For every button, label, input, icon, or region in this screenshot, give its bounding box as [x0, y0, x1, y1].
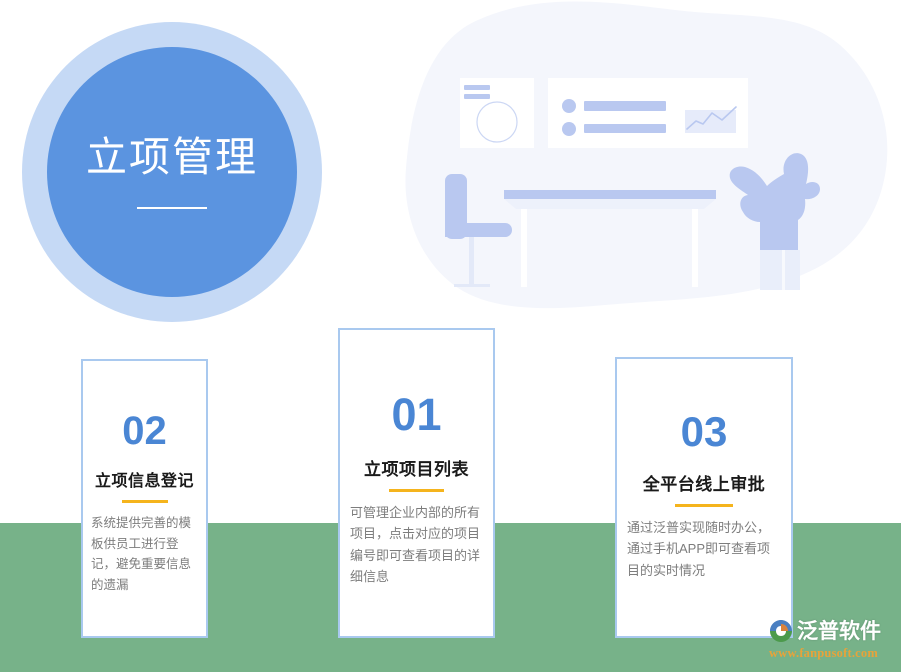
hero-circle: 立项管理 — [47, 47, 297, 297]
desk-top-surface — [504, 199, 716, 209]
bullet-dot-1 — [562, 99, 576, 113]
blob-background — [405, 2, 887, 309]
chair-post — [469, 237, 474, 284]
fanpu-swoosh-icon — [768, 618, 794, 644]
brand-url: www.fanpusoft.com — [769, 646, 878, 661]
card-description: 系统提供完善的模板供员工进行登记，避免重要信息的遗漏 — [83, 513, 206, 596]
plant-pot — [760, 250, 800, 290]
bullet-bar-1 — [584, 101, 666, 111]
card-divider — [122, 500, 168, 503]
feature-card-01[interactable]: 01 立项项目列表 可管理企业内部的所有项目，点击对应的项目编号即可查看项目的详… — [338, 328, 495, 638]
feature-card-03[interactable]: 03 全平台线上审批 通过泛普实现随时办公，通过手机APP即可查看项目的实时情况 — [615, 357, 793, 638]
desk-top-edge — [504, 190, 716, 199]
card-title: 立项项目列表 — [364, 455, 469, 480]
slide-canvas: 立项管理 02 立项信息登记 系统提供完善的模板供员工进行登记，避免重要信息的遗… — [0, 0, 901, 672]
panel-bar-2 — [464, 94, 490, 99]
chair-seat — [445, 223, 512, 237]
hero-divider — [137, 207, 207, 209]
bullet-dot-2 — [562, 122, 576, 136]
card-number: 03 — [681, 411, 728, 453]
feature-card-02[interactable]: 02 立项信息登记 系统提供完善的模板供员工进行登记，避免重要信息的遗漏 — [81, 359, 208, 638]
brand-logo-row: 泛普软件 — [768, 618, 881, 644]
panel-bar-1 — [464, 85, 490, 90]
brand-name: 泛普软件 — [797, 621, 881, 642]
card-title: 全平台线上审批 — [643, 470, 766, 495]
page-title: 立项管理 — [86, 135, 258, 180]
chair-base — [454, 284, 490, 287]
office-desk-illustration — [400, 0, 901, 330]
card-title: 立项信息登记 — [95, 467, 194, 491]
plant-pot-highlight — [782, 250, 785, 290]
card-divider — [389, 489, 444, 492]
card-number: 02 — [122, 411, 167, 451]
card-divider — [675, 504, 733, 507]
card-description: 可管理企业内部的所有项目，点击对应的项目编号即可查看项目的详细信息 — [340, 502, 493, 588]
card-description: 通过泛普实现随时办公，通过手机APP即可查看项目的实时情况 — [617, 517, 791, 581]
bullet-bar-2 — [584, 124, 666, 133]
brand-logo[interactable]: 泛普软件 www.fanpusoft.com — [768, 618, 881, 661]
desk-leg-right — [692, 209, 698, 287]
desk-leg-left — [521, 209, 527, 287]
card-number: 01 — [391, 392, 441, 437]
